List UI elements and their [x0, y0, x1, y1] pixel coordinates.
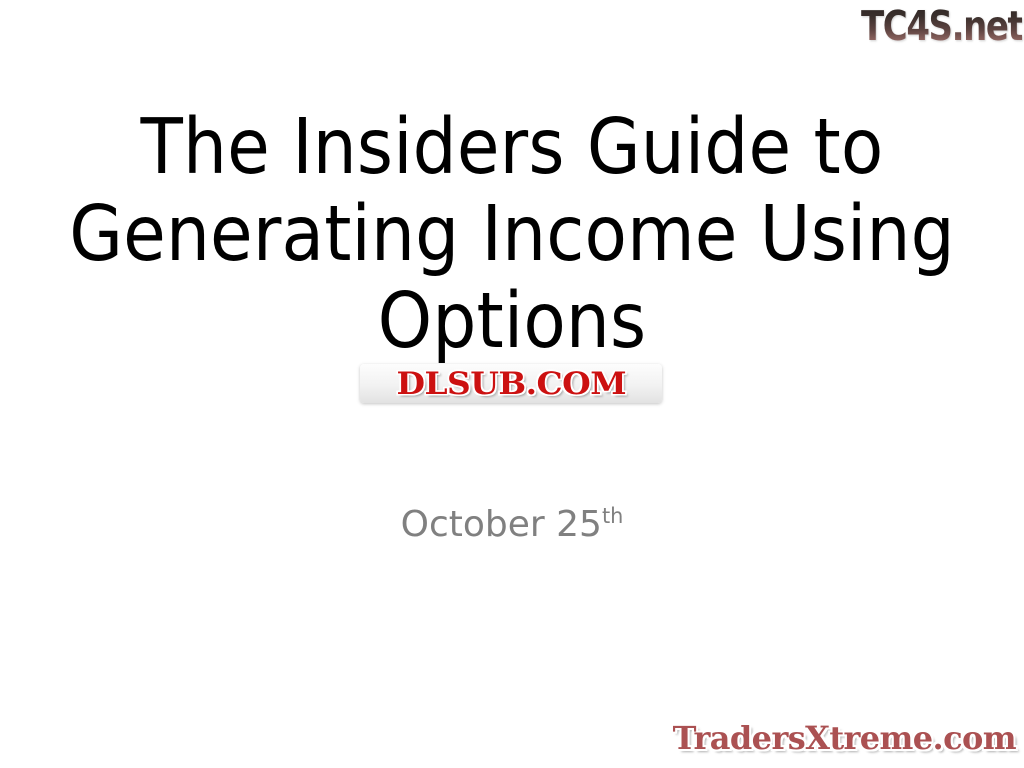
title-line-3: Options — [62, 278, 962, 365]
title-line-1: The Insiders Guide to — [62, 104, 962, 191]
subtitle-date-text: October 25 — [401, 504, 602, 545]
presentation-slide: TC4S.net The Insiders Guide to Generatin… — [0, 0, 1024, 768]
dlsub-watermark-plate: DLSUB.COM — [360, 364, 662, 403]
slide-subtitle: October 25th — [62, 503, 962, 547]
subtitle-date-ordinal: th — [602, 504, 623, 528]
tc4s-watermark-text: TC4S.net — [861, 2, 1022, 50]
tc4s-watermark-logo: TC4S.net — [830, 2, 1022, 50]
subtitle-date: October 25th — [401, 504, 624, 545]
title-line-2: Generating Income Using — [62, 191, 962, 278]
tradersxtreme-watermark-text: TradersXtreme.com — [673, 719, 1016, 757]
slide-title: The Insiders Guide to Generating Income … — [62, 104, 962, 365]
tradersxtreme-watermark-logo: TradersXtreme.com — [686, 716, 1016, 760]
dlsub-watermark-text: DLSUB.COM — [396, 366, 626, 402]
